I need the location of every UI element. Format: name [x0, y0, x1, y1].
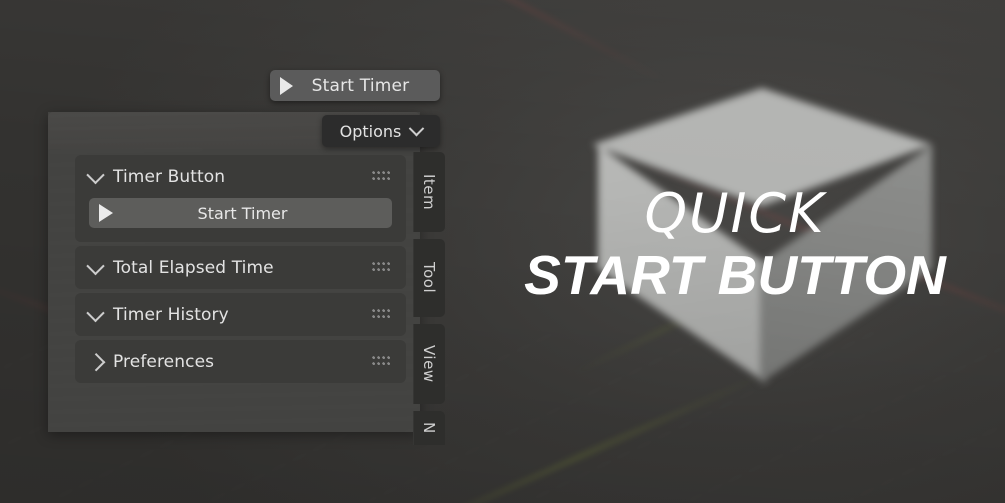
panel-timer-button: Timer Button Start Timer	[75, 155, 406, 242]
chevron-down-icon	[409, 120, 425, 136]
tab-n-label: N	[420, 422, 438, 434]
chevron-down-icon[interactable]	[86, 304, 104, 322]
chevron-right-icon[interactable]	[87, 353, 105, 371]
drag-dots-icon[interactable]	[372, 356, 392, 367]
drag-dots-icon[interactable]	[372, 171, 392, 182]
sidebar-tabs: Item Tool View N	[413, 152, 445, 452]
options-dropdown[interactable]: Options	[322, 115, 440, 147]
panel-header-total-elapsed-time[interactable]: Total Elapsed Time	[75, 246, 406, 289]
panel-timer-history: Timer History	[75, 293, 406, 336]
tab-tool[interactable]: Tool	[413, 239, 445, 317]
tab-item[interactable]: Item	[413, 152, 445, 232]
panel-title-preferences: Preferences	[113, 352, 372, 372]
chevron-down-icon[interactable]	[86, 257, 104, 275]
floating-start-timer-label: Start Timer	[299, 76, 430, 96]
play-icon	[99, 204, 113, 222]
panel-body-timer-button: Start Timer	[75, 198, 406, 242]
start-timer-button-label: Start Timer	[113, 204, 382, 223]
tab-tool-label: Tool	[420, 262, 438, 293]
tab-view-label: View	[420, 345, 438, 383]
panel-total-elapsed-time: Total Elapsed Time	[75, 246, 406, 289]
panel-header-timer-button[interactable]: Timer Button	[75, 155, 406, 198]
panel-stack: Timer Button Start Timer Total Elapsed T…	[75, 155, 406, 387]
play-icon	[280, 77, 293, 95]
start-timer-button[interactable]: Start Timer	[89, 198, 392, 228]
panel-preferences: Preferences	[75, 340, 406, 383]
screenshot-root: Options Timer Button Start Timer Total E…	[0, 0, 1005, 503]
options-label: Options	[340, 122, 402, 141]
chevron-down-icon[interactable]	[86, 166, 104, 184]
drag-dots-icon[interactable]	[372, 262, 392, 273]
floating-start-timer-button[interactable]: Start Timer	[270, 70, 440, 101]
panel-title-timer-button: Timer Button	[113, 167, 372, 187]
panel-header-timer-history[interactable]: Timer History	[75, 293, 406, 336]
panel-title-total-elapsed-time: Total Elapsed Time	[113, 258, 372, 278]
tab-view[interactable]: View	[413, 324, 445, 404]
tab-n[interactable]: N	[413, 411, 445, 445]
tab-item-label: Item	[420, 174, 438, 210]
panel-header-preferences[interactable]: Preferences	[75, 340, 406, 383]
drag-dots-icon[interactable]	[372, 309, 392, 320]
panel-title-timer-history: Timer History	[113, 305, 372, 325]
